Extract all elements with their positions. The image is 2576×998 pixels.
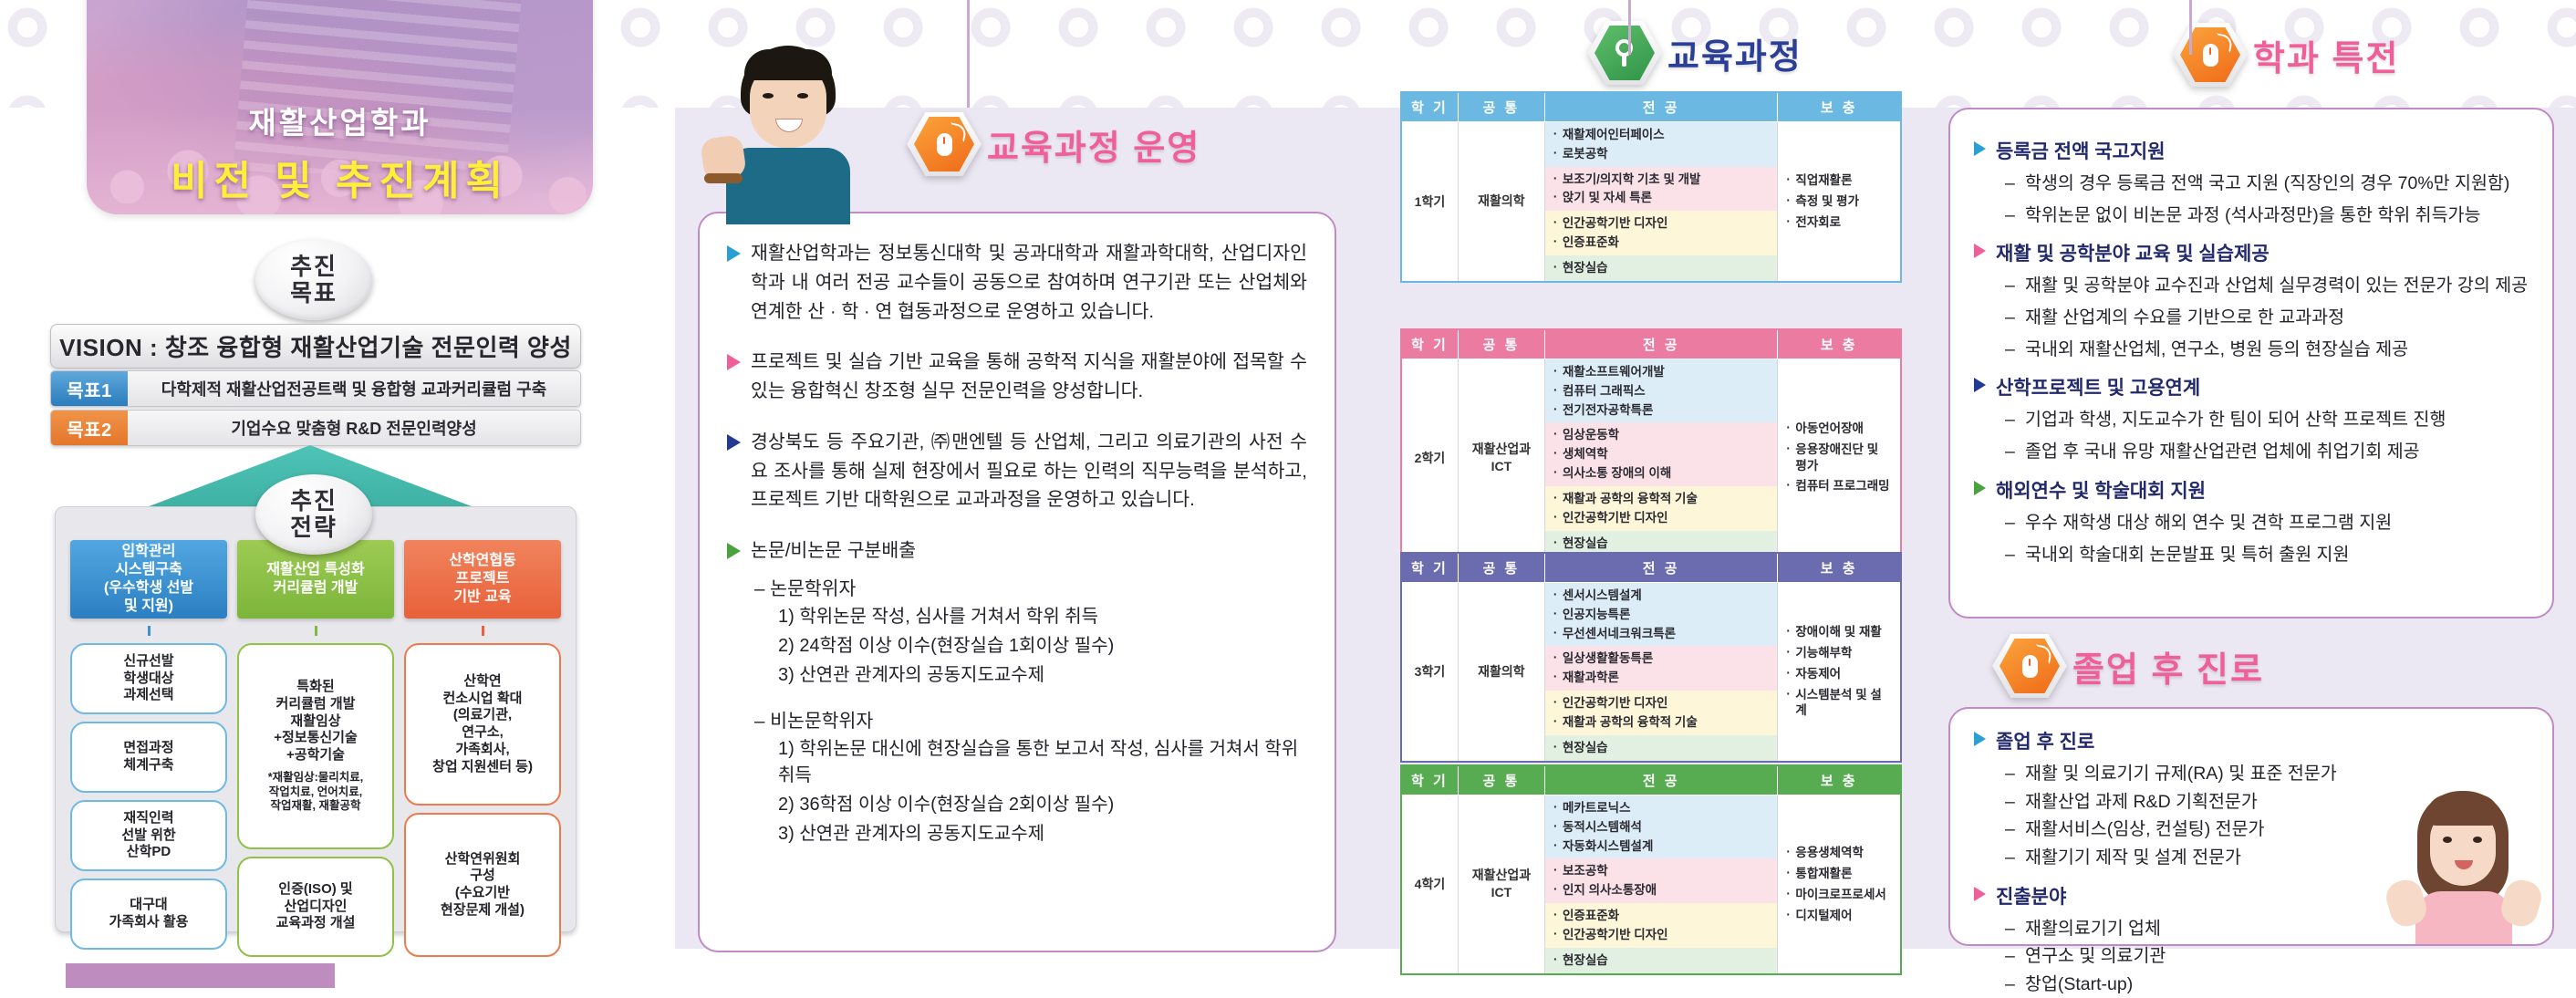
supplement-item: 자동제어 <box>1785 666 1893 682</box>
item-line: 대구대 <box>130 897 167 914</box>
course-item: 현장실습 <box>1553 740 1771 756</box>
course-item: 의사소통 장애의 이해 <box>1553 465 1770 482</box>
perk-group-header: 등록금 전액 국고지원 <box>1974 137 2529 164</box>
perk-item: 국내외 재활산업체, 연구소, 병원 등의 현장실습 제공 <box>2005 338 2529 363</box>
degree-group-item: 3) 산연관 관계자의 공동지도교수제 <box>778 662 1307 689</box>
cell-supplement: 아동언어장애 응용장애진단 및 평가 컴퓨터 프로그래밍 <box>1778 359 1901 557</box>
bullet-triangle-icon <box>1974 732 1986 746</box>
item-line: 커리큘럼 개발 <box>276 696 356 713</box>
career-card: 졸업 후 진로 재활 및 의료기기 규제(RA) 및 표준 전문가 재활산업 과… <box>1948 707 2554 946</box>
mouse-icon <box>2000 639 2060 693</box>
major-group: 일상생활활동특론 재활과학론 <box>1545 646 1778 691</box>
paragraph-block: 재활산업학과는 정보통신대학 및 공과대학과 재활과학대학, 산업디자인학과 내… <box>727 239 1307 326</box>
vision-panel: 재활산업학과 비전 및 추진계획 추진 목표 VISION : 창조 융합형 재… <box>0 0 639 988</box>
perks-card: 등록금 전액 국고지원 학생의 경우 등록금 전액 국고 지원 (직장인의 경우… <box>1948 108 2554 619</box>
item-line: 컨소시업 확대 <box>443 691 523 708</box>
col-header-common: 공 통 <box>1458 765 1544 795</box>
common-line: 재활산업과 <box>1459 867 1544 884</box>
major-group: 재활제어인터페이스 로봇공학 <box>1545 122 1778 167</box>
semester-table: 학 기 공 통 전 공 보 충 3학기 재활의학 센서시스템설계 인공지능특론 … <box>1400 552 1902 763</box>
career-group-title: 졸업 후 진로 <box>1996 727 2094 754</box>
course-item: 임상운동학 <box>1553 427 1770 443</box>
major-group: 인간공학기반 디자인 인증표준화 <box>1545 211 1778 255</box>
paragraph-text: 경상북도 등 주요기관, ㈜맨엔텔 등 산업체, 그리고 의료기관의 사전 수요… <box>751 428 1307 515</box>
course-item: 인증표준화 <box>1553 234 1771 251</box>
col-header-semester: 학 기 <box>1401 92 1458 122</box>
mouse-icon <box>914 117 974 172</box>
connector-line-middle <box>967 0 970 108</box>
degree-section-title: 논문/비논문 구분배출 <box>751 536 916 566</box>
strategy-column-admissions: 입학관리 시스템구축 (우수학생 선발 및 지원) 신규선발 학생대상 과제선택… <box>70 540 227 957</box>
item-line: 재직인력 <box>123 810 173 827</box>
paragraph-text: 프로젝트 및 실습 기반 교육을 통해 공학적 지식을 재활분야에 접목할 수 … <box>751 348 1307 406</box>
perk-item: 기업과 학생, 지도교수가 한 팀이 되어 산학 프로젝트 진행 <box>2005 408 2529 433</box>
supplement-item: 전자회로 <box>1785 214 1893 231</box>
col-header-supplement: 보 충 <box>1778 329 1901 359</box>
col-header-common: 공 통 <box>1458 92 1544 122</box>
header-line: 시스템구축 <box>115 561 182 579</box>
item-note-line: 작업재활, 재활공학 <box>271 799 361 814</box>
supplement-item: 응용생체역학 <box>1785 845 1893 861</box>
table-row: 3학기 재활의학 센서시스템설계 인공지능특론 무선센서네크워크특론 일상생활활… <box>1401 583 1901 762</box>
item-line: 인증(ISO) 및 <box>278 881 352 899</box>
bottom-accent-bar <box>66 963 335 988</box>
search-icon <box>1594 26 1655 80</box>
course-item: 생체역학 <box>1553 446 1770 463</box>
perk-group-title: 재활 및 공학분야 교육 및 실습제공 <box>1996 239 2270 266</box>
section-header-curriculum: 교육과정 <box>1594 26 1802 80</box>
header-line: 및 지원) <box>124 598 173 616</box>
cell-major: 재활소프트웨어개발 컴퓨터 그래픽스 전기전자공학특론 임상운동학 생체역학 의… <box>1545 359 1778 557</box>
perk-item: 우수 재학생 대상 해외 연수 및 견학 프로그램 지원 <box>2005 511 2529 536</box>
course-item: 현장실습 <box>1553 952 1770 969</box>
supplement-item: 기능해부학 <box>1785 645 1893 661</box>
course-item: 인간공학기반 디자인 <box>1553 927 1770 943</box>
table-row: 1학기 재활의학 재활제어인터페이스 로봇공학 보조기/의지학 기초 및 개발 … <box>1401 122 1901 282</box>
table-row: 4학기 재활산업과 ICT 메카트로닉스 동적시스템해석 자동화시스템설계 보조… <box>1401 795 1901 974</box>
cell-major: 재활제어인터페이스 로봇공학 보조기/의지학 기초 및 개발 앉기 및 자세 특… <box>1544 122 1778 282</box>
section-header-perks: 학과 특전 <box>2180 27 2399 82</box>
section-header-career: 졸업 후 진로 <box>2000 639 2264 693</box>
supplement-item: 장애이해 및 재활 <box>1785 624 1893 640</box>
strategy-item: 면접과정 체계구축 <box>70 722 227 793</box>
supplement-item: 응용장애진단 및 평가 <box>1785 442 1893 474</box>
supplement-item: 아동언어장애 <box>1785 421 1893 437</box>
item-line: +정보통신기술 <box>274 730 358 747</box>
strategy-box: 입학관리 시스템구축 (우수학생 선발 및 지원) 신규선발 학생대상 과제선택… <box>55 506 576 932</box>
course-item: 재활소프트웨어개발 <box>1553 364 1770 380</box>
semester-table: 학 기 공 통 전 공 보 충 1학기 재활의학 재활제어인터페이스 로봇공학 … <box>1400 91 1902 283</box>
bullet-triangle-icon <box>727 245 741 262</box>
strategy-badge: 추진 전략 <box>255 474 372 555</box>
col-header-major: 전 공 <box>1545 765 1778 795</box>
strategy-column-header: 입학관리 시스템구축 (우수학생 선발 및 지원) <box>70 540 227 619</box>
item-line: 특화된 <box>296 679 334 696</box>
strategy-columns: 입학관리 시스템구축 (우수학생 선발 및 지원) 신규선발 학생대상 과제선택… <box>70 540 563 957</box>
cell-common: 재활산업과 ICT <box>1458 795 1544 974</box>
col-header-supplement: 보 충 <box>1778 553 1901 583</box>
career-item: 재활기기 제작 및 설계 전문가 <box>2005 846 2529 871</box>
supplement-item: 직업재활론 <box>1785 172 1893 189</box>
career-item: 연구소 및 의료기관 <box>2005 944 2529 970</box>
item-line: 구성 <box>470 868 495 885</box>
course-item: 재활과학론 <box>1553 670 1771 686</box>
item-line: +공학기술 <box>286 747 345 764</box>
col-header-semester: 학 기 <box>1401 553 1458 583</box>
section-header-curriculum-operation: 교육과정 운영 <box>914 117 1200 172</box>
supplement-item: 디지털제어 <box>1785 908 1893 924</box>
perk-group-header: 산학프로젝트 및 고용연계 <box>1974 373 2529 400</box>
perk-item: 졸업 후 국내 유망 재활산업관련 업체에 취업기회 제공 <box>2005 440 2529 465</box>
course-item: 재활과 공학의 융학적 기술 <box>1553 714 1771 731</box>
cell-semester: 1학기 <box>1401 122 1458 282</box>
major-group: 메카트로닉스 동적시스템해석 자동화시스템설계 <box>1545 795 1777 858</box>
table-header-row: 학 기 공 통 전 공 보 충 <box>1401 765 1901 795</box>
goal-badge-line1: 추진 <box>290 254 338 280</box>
course-item: 메카트로닉스 <box>1553 800 1770 816</box>
vision-statement: VISION : 창조 융합형 재활산업기술 전문인력 양성 <box>50 324 581 369</box>
table-header-row: 학 기 공 통 전 공 보 충 <box>1401 92 1901 122</box>
perk-item: 국내외 학술대회 논문발표 및 특허 출원 지원 <box>2005 543 2529 568</box>
perk-item: 재활 및 공학분야 교수진과 산업체 실무경력이 있는 전문가 강의 제공 <box>2005 274 2529 299</box>
item-line: 재활임상 <box>290 713 340 731</box>
cell-major: 센서시스템설계 인공지능특론 무선센서네크워크특론 일상생활활동특론 재활과학론… <box>1544 583 1778 762</box>
item-line: 학생대상 <box>123 671 173 688</box>
strategy-item: 산학연위원회 구성 (수요기반 현장문제 개설) <box>404 813 561 957</box>
connector-line-perks <box>2189 0 2192 55</box>
course-item: 인증표준화 <box>1553 908 1770 924</box>
paragraph-block: 경상북도 등 주요기관, ㈜맨엔텔 등 산업체, 그리고 의료기관의 사전 수요… <box>727 428 1307 515</box>
col-header-semester: 학 기 <box>1401 329 1458 359</box>
career-item: 재활 및 의료기기 규제(RA) 및 표준 전문가 <box>2005 762 2529 787</box>
course-item: 일상생활활동특론 <box>1553 650 1771 667</box>
perk-item: 재활 산업계의 수요를 기반으로 한 교과과정 <box>2005 306 2529 331</box>
col-header-major: 전 공 <box>1544 92 1778 122</box>
major-group: 센서시스템설계 인공지능특론 무선센서네크워크특론 <box>1545 583 1778 646</box>
degree-group-item: 2) 36학점 이상 이수(현장실습 2회이상 필수) <box>778 792 1307 818</box>
item-line: 산업디자인 <box>284 899 347 916</box>
major-group: 현장실습 <box>1545 735 1778 761</box>
item-line: 산학연위원회 <box>445 851 521 868</box>
degree-group-item: 2) 24학점 이상 이수(현장실습 1회이상 필수) <box>778 633 1307 660</box>
strategy-item: 인증(ISO) 및 산업디자인 교육과정 개설 <box>237 857 394 957</box>
col-header-major: 전 공 <box>1544 553 1778 583</box>
course-item: 센서시스템설계 <box>1553 587 1771 604</box>
hero-subtitle: 비전 및 추진계획 <box>87 148 593 206</box>
bullet-triangle-icon <box>727 543 741 559</box>
semester-table: 학 기 공 통 전 공 보 충 2학기 재활산업과 ICT 재활소프트웨어개발 … <box>1400 328 1902 557</box>
bullet-triangle-icon <box>1974 887 1986 901</box>
hero-banner: 재활산업학과 비전 및 추진계획 <box>87 0 593 214</box>
course-item: 무선센서네크워크특론 <box>1553 626 1771 642</box>
curriculum-operation-panel: 교육과정 운영 재활산업학과는 정보통신대학 및 공과대학과 재활과학대학, 산… <box>675 0 1377 988</box>
item-line: 체계구축 <box>123 757 173 774</box>
goal-text: 기업수요 맞춤형 R&D 전문인력양성 <box>128 411 580 445</box>
goal-row: 목표2 기업수요 맞춤형 R&D 전문인력양성 <box>50 410 581 446</box>
section-title: 학과 특전 <box>2253 30 2399 80</box>
header-line: 입학관리 <box>122 543 176 561</box>
common-line: ICT <box>1459 884 1544 901</box>
hero-title-group: 재활산업학과 비전 및 추진계획 <box>87 99 593 206</box>
paragraph-text: 재활산업학과는 정보통신대학 및 공과대학과 재활과학대학, 산업디자인학과 내… <box>751 239 1307 326</box>
header-line: 프로젝트 <box>456 570 510 588</box>
supplement-item: 컴퓨터 프로그래밍 <box>1785 478 1893 494</box>
student-photo-male <box>702 46 876 224</box>
item-line: 교육과정 개설 <box>276 915 356 932</box>
semester-table: 학 기 공 통 전 공 보 충 4학기 재활산업과 ICT 메카트로닉스 동적시… <box>1400 764 1902 975</box>
item-line: 과제선택 <box>123 687 173 704</box>
strategy-column-industry: 산학연협동 프로젝트 기반 교육 산학연 컨소시업 확대 (의료기관, 연구소,… <box>404 540 561 957</box>
perk-group-title: 해외연수 및 학술대회 지원 <box>1996 476 2206 504</box>
course-item: 현장실습 <box>1553 535 1770 552</box>
item-line: (의료기관, <box>453 707 512 724</box>
section-title: 졸업 후 진로 <box>2072 641 2264 691</box>
strategy-badge-line1: 추진 <box>290 488 338 515</box>
connector-line-curriculum <box>1628 0 1631 55</box>
connector-stem <box>315 626 317 636</box>
major-group: 현장실습 <box>1545 948 1777 973</box>
perk-group-title: 산학프로젝트 및 고용연계 <box>1996 373 2200 400</box>
cell-semester: 2학기 <box>1401 359 1458 557</box>
cell-semester: 4학기 <box>1401 795 1458 974</box>
item-line: 연구소, <box>462 724 504 742</box>
course-item: 컴퓨터 그래픽스 <box>1553 383 1770 400</box>
supplement-item: 시스템분석 및 설계 <box>1785 687 1893 720</box>
course-item: 전기전자공학특론 <box>1553 402 1770 419</box>
course-item: 인공지능특론 <box>1553 607 1771 623</box>
career-item: 재활서비스(임상, 컨설팅) 전문가 <box>2005 817 2529 843</box>
header-line: 기반 교육 <box>453 588 511 607</box>
hero-department-name: 재활산업학과 <box>87 99 593 142</box>
perk-group-title: 등록금 전액 국고지원 <box>1996 137 2166 164</box>
item-line: 현장문제 개설) <box>441 902 525 920</box>
strategy-item: 특화된 커리큘럼 개발 재활임상 +정보통신기술 +공학기술 *재활임상:물리치… <box>237 643 394 849</box>
col-header-common: 공 통 <box>1458 329 1544 359</box>
course-item: 자동화시스템설계 <box>1553 838 1770 855</box>
degree-group-item: 1) 학위논문 대신에 현장실습을 통한 보고서 작성, 심사를 거쳐서 학위 … <box>778 736 1307 789</box>
cell-common: 재활의학 <box>1458 122 1544 282</box>
item-line: 신규선발 <box>123 653 173 671</box>
strategy-item: 산학연 컨소시업 확대 (의료기관, 연구소, 가족회사, 창업 지원센터 등) <box>404 643 561 806</box>
course-item: 보조기/의지학 기초 및 개발 <box>1553 172 1771 188</box>
item-note-line: 작업치료, 언어치료, <box>269 785 362 800</box>
course-item: 인간공학기반 디자인 <box>1553 215 1771 232</box>
header-line: (우수학생 선발 <box>104 579 193 598</box>
bullet-triangle-icon <box>1974 481 1986 495</box>
col-header-supplement: 보 충 <box>1778 92 1901 122</box>
degree-group-item: 1) 학위논문 작성, 심사를 거쳐서 학위 취득 <box>778 604 1307 630</box>
item-line: 산학연 <box>463 673 501 691</box>
supplement-item: 측정 및 평가 <box>1785 193 1893 210</box>
cell-major: 메카트로닉스 동적시스템해석 자동화시스템설계 보조공학 인지 의사소통장애 인… <box>1545 795 1778 974</box>
common-line: ICT <box>1459 458 1544 475</box>
major-group: 현장실습 <box>1545 255 1778 281</box>
header-line: 산학연협동 <box>449 552 516 570</box>
degree-group-item: 3) 산연관 관계자의 공동지도교수제 <box>778 821 1307 847</box>
bullet-triangle-icon <box>727 434 741 451</box>
col-header-common: 공 통 <box>1458 553 1544 583</box>
major-group: 임상운동학 생체역학 의사소통 장애의 이해 <box>1545 422 1777 485</box>
item-line: 산학PD <box>127 844 171 861</box>
section-title: 교육과정 운영 <box>987 120 1200 170</box>
career-group-title: 진출분야 <box>1996 882 2066 910</box>
section-title: 교육과정 <box>1667 28 1802 78</box>
strategy-badge-line2: 전략 <box>290 515 338 541</box>
common-line: 재활산업과 <box>1459 441 1544 458</box>
brochure-page: 재활산업학과 비전 및 추진계획 추진 목표 VISION : 창조 융합형 재… <box>0 0 2576 988</box>
item-note-line: *재활임상:물리치료, <box>268 771 364 785</box>
table-header-row: 학 기 공 통 전 공 보 충 <box>1401 553 1901 583</box>
career-group-header: 진출분야 <box>1974 882 2529 910</box>
perk-item: 학생의 경우 등록금 전액 국고 지원 (직장인의 경우 70%만 지원함) <box>2005 172 2529 197</box>
header-line: 커리큘럼 개발 <box>274 579 358 598</box>
goal-row: 목표1 다학제적 재활산업전공트랙 및 융합형 교과커리큘럼 구축 <box>50 370 581 407</box>
item-line: (수요기반 <box>455 885 510 902</box>
goal-text: 다학제적 재활산업전공트랙 및 융합형 교과커리큘럼 구축 <box>128 371 580 406</box>
course-item: 현장실습 <box>1553 260 1771 276</box>
cell-supplement: 직업재활론 측정 및 평가 전자회로 <box>1778 122 1901 282</box>
cell-common: 재활산업과 ICT <box>1458 359 1544 557</box>
major-group: 보조기/의지학 기초 및 개발 앉기 및 자세 특론 <box>1545 167 1778 212</box>
col-header-supplement: 보 충 <box>1778 765 1901 795</box>
item-line: 가족회사 활용 <box>109 914 189 931</box>
connector-stem <box>482 626 484 636</box>
table-row: 2학기 재활산업과 ICT 재활소프트웨어개발 컴퓨터 그래픽스 전기전자공학특… <box>1401 359 1901 557</box>
major-group: 인간공학기반 디자인 재활과 공학의 융학적 기술 <box>1545 691 1778 735</box>
strategy-column-header: 산학연협동 프로젝트 기반 교육 <box>404 540 561 619</box>
goal-tag: 목표1 <box>51 371 128 406</box>
degree-group-label: – 비논문학위자 <box>754 705 1307 733</box>
major-group: 재활과 공학의 융학적 기술 인간공학기반 디자인 <box>1545 486 1777 531</box>
cell-supplement: 응용생체역학 통합재활론 마이크로프로세서 디지털제어 <box>1778 795 1901 974</box>
major-group: 인증표준화 인간공학기반 디자인 <box>1545 903 1777 948</box>
goal-badge-line2: 목표 <box>290 280 338 307</box>
career-item: 재활의료기기 업체 <box>2005 917 2529 942</box>
supplement-item: 통합재활론 <box>1785 866 1893 882</box>
paragraph-block: 프로젝트 및 실습 기반 교육을 통해 공학적 지식을 재활분야에 접목할 수 … <box>727 348 1307 406</box>
bullet-triangle-icon <box>727 354 741 370</box>
perk-group-header: 해외연수 및 학술대회 지원 <box>1974 476 2529 504</box>
course-item: 재활제어인터페이스 <box>1553 127 1771 143</box>
degree-section-header: 논문/비논문 구분배출 <box>727 536 1307 566</box>
cell-semester: 3학기 <box>1401 583 1458 762</box>
strategy-item: 대구대 가족회사 활용 <box>70 878 227 950</box>
curriculum-operation-card: 재활산업학과는 정보통신대학 및 공과대학과 재활과학대학, 산업디자인학과 내… <box>698 212 1336 952</box>
bullet-triangle-icon <box>1974 378 1986 392</box>
course-item: 인간공학기반 디자인 <box>1553 510 1770 526</box>
col-header-semester: 학 기 <box>1401 765 1458 795</box>
career-item: 창업(Start-up) <box>2005 972 2529 998</box>
strategy-item: 재직인력 선발 위한 산학PD <box>70 800 227 871</box>
goal-tag: 목표2 <box>51 411 128 445</box>
item-line: 창업 지원센터 등) <box>432 759 533 776</box>
strategy-item: 신규선발 학생대상 과제선택 <box>70 643 227 714</box>
course-item: 로봇공학 <box>1553 146 1771 162</box>
course-item: 동적시스템해석 <box>1553 819 1770 836</box>
course-item: 인지 의사소통장애 <box>1553 882 1770 899</box>
goal-badge: 추진 목표 <box>255 240 372 320</box>
course-item: 앉기 및 자세 특론 <box>1553 190 1771 206</box>
course-item: 보조공학 <box>1553 863 1770 879</box>
supplement-item: 마이크로프로세서 <box>1785 887 1893 903</box>
course-item: 재활과 공학의 융학적 기술 <box>1553 491 1770 507</box>
career-group-header: 졸업 후 진로 <box>1974 727 2529 754</box>
item-line: 가족회사, <box>455 742 509 759</box>
col-header-major: 전 공 <box>1545 329 1778 359</box>
table-header-row: 학 기 공 통 전 공 보 충 <box>1401 329 1901 359</box>
bullet-triangle-icon <box>1974 244 1986 258</box>
cell-supplement: 장애이해 및 재활 기능해부학 자동제어 시스템분석 및 설계 <box>1778 583 1901 762</box>
header-line: 재활산업 특성화 <box>266 561 365 579</box>
curriculum-table-panel: 교육과정 학 기 공 통 전 공 보 충 1학기 재활의학 재활제어인터페이스 … <box>1377 0 1925 988</box>
cell-common: 재활의학 <box>1458 583 1544 762</box>
item-line: 면접과정 <box>123 740 173 757</box>
connector-stem <box>148 626 151 636</box>
strategy-column-curriculum: 재활산업 특성화 커리큘럼 개발 특화된 커리큘럼 개발 재활임상 +정보통신기… <box>237 540 394 957</box>
major-group: 재활소프트웨어개발 컴퓨터 그래픽스 전기전자공학특론 <box>1545 359 1777 422</box>
item-line: 선발 위한 <box>121 827 175 845</box>
major-group: 보조공학 인지 의사소통장애 <box>1545 858 1777 903</box>
bullet-triangle-icon <box>1974 141 1986 156</box>
perks-career-panel: 학과 특전 등록금 전액 국고지원 학생의 경우 등록금 전액 국고 지원 (직… <box>1925 0 2576 988</box>
degree-group-label: – 논문학위자 <box>754 573 1307 600</box>
career-item: 재활산업 과제 R&D 기획전문가 <box>2005 790 2529 816</box>
course-item: 인간공학기반 디자인 <box>1553 695 1771 712</box>
perk-item: 학위논문 없이 비논문 과정 (석사과정만)을 통한 학위 취득가능 <box>2005 203 2529 229</box>
perk-group-header: 재활 및 공학분야 교육 및 실습제공 <box>1974 239 2529 266</box>
